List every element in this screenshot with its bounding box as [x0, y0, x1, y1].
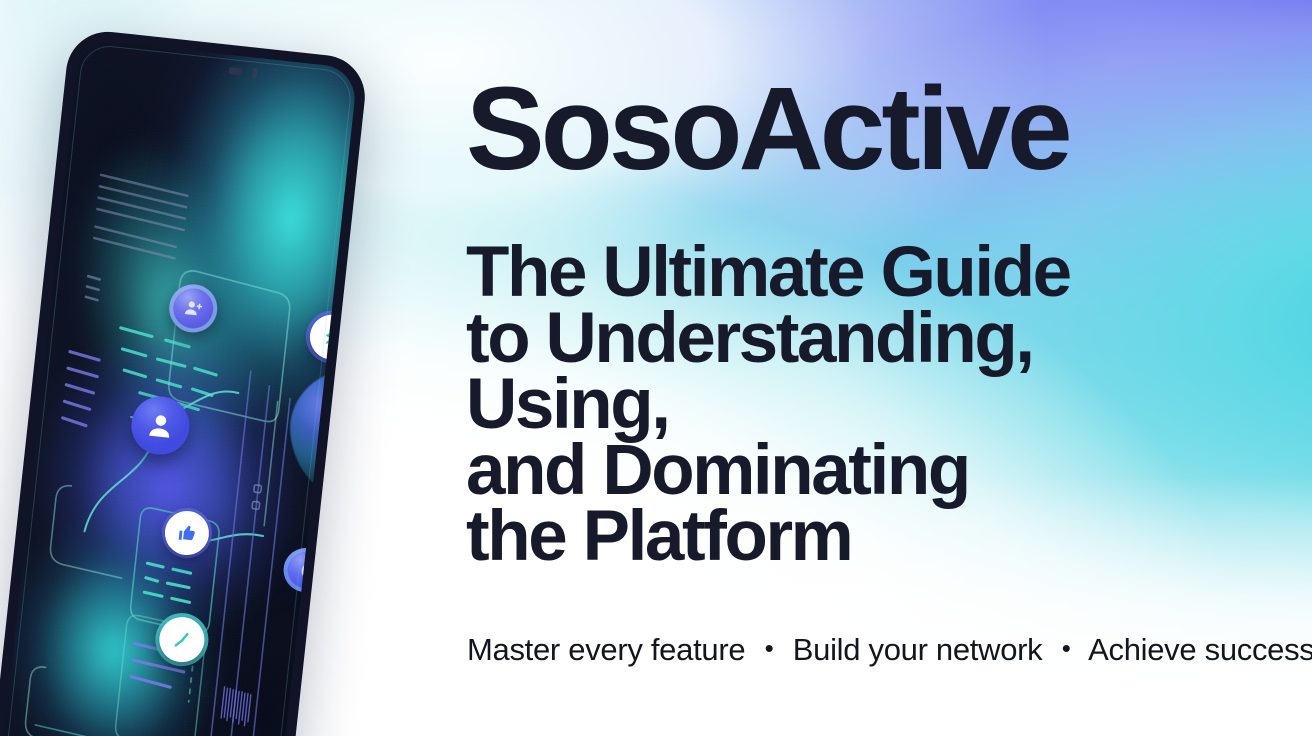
tagline-item-2: Build your network: [793, 632, 1043, 667]
headline-line-5: the Platform: [466, 504, 1070, 570]
tagline-item-1: Master every feature: [467, 632, 745, 667]
decorative-dot: [332, 658, 358, 689]
headline-line-1: The Ultimate Guide: [466, 240, 1070, 306]
poster-text-column: SosoActive The Ultimate Guide to Underst…: [466, 0, 1226, 736]
tagline-separator-2: •: [1051, 633, 1082, 663]
phone-screen: [0, 39, 358, 736]
camera-icon: [229, 67, 243, 75]
headline-line-3: Using,: [466, 372, 1070, 438]
brand-title: SosoActive: [466, 70, 1069, 188]
tagline-separator-1: •: [754, 633, 785, 663]
headline-line-4: and Dominating: [466, 438, 1070, 504]
tagline-item-3: Achieve success: [1088, 632, 1312, 667]
tagline: Master every feature • Build your networ…: [467, 634, 1312, 665]
headline: The Ultimate Guide to Understanding, Usi…: [466, 240, 1070, 570]
headline-line-2: to Understanding,: [466, 306, 1070, 372]
screen-noise-texture: [0, 39, 358, 736]
poster-canvas: SosoActive The Ultimate Guide to Underst…: [0, 0, 1312, 736]
device-illustration: [0, 0, 406, 736]
phone-device: [0, 28, 369, 736]
